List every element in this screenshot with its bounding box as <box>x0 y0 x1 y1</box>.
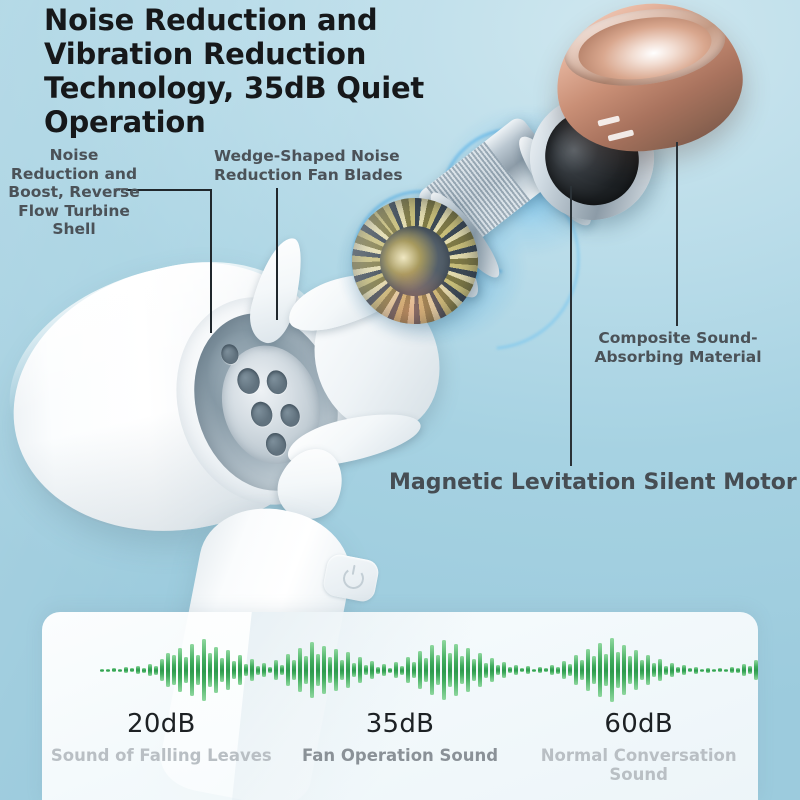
waveform-bar <box>706 668 710 673</box>
waveform-bar <box>328 657 332 683</box>
waveform-bar <box>592 656 596 684</box>
waveform-bar <box>490 658 494 682</box>
waveform-bar <box>604 654 608 686</box>
decibel-value: 20dB <box>50 708 273 741</box>
waveform-bar <box>268 667 272 673</box>
cup-slot <box>597 115 620 126</box>
waveform-bar <box>370 661 374 679</box>
waveform-bar <box>400 666 404 675</box>
waveform-bar <box>514 665 518 675</box>
waveform-bar <box>436 655 440 685</box>
waveform-bar <box>118 669 122 672</box>
waveform-bar <box>172 655 176 685</box>
waveform-bar <box>142 668 146 673</box>
waveform-bar <box>694 667 698 674</box>
waveform-bar <box>742 664 746 676</box>
waveform-bar <box>178 648 182 692</box>
decibel-level-1: 20dBSound of Falling Leaves <box>42 708 281 785</box>
waveform-bar <box>712 669 716 672</box>
waveform-bar <box>526 666 530 674</box>
waveform-bar <box>130 668 134 672</box>
waveform-bar <box>724 669 728 672</box>
waveform-bar <box>754 660 758 680</box>
waveform-bar <box>124 667 128 673</box>
waveform-bar <box>136 666 140 674</box>
waveform-bar <box>610 638 614 702</box>
waveform-bar <box>412 662 416 678</box>
waveform-bar <box>322 646 326 694</box>
decibel-caption: Fan Operation Sound <box>289 746 512 766</box>
waveform-bar <box>274 660 278 680</box>
callout-label-fan-blades: Wedge-Shaped Noise Reduction Fan Blades <box>214 147 414 184</box>
decibel-caption: Normal Conversation Sound <box>527 746 750 786</box>
waveform-bar <box>166 653 170 687</box>
waveform-bar <box>280 665 284 675</box>
decibel-value: 35dB <box>289 708 512 741</box>
page-title: Noise Reduction and Vibration Reduction … <box>44 4 464 140</box>
waveform-bar <box>418 651 422 689</box>
waveform-bar <box>376 667 380 674</box>
waveform-bar <box>190 644 194 696</box>
waveform-bar <box>364 665 368 675</box>
waveform-bar <box>310 642 314 698</box>
waveform-bar <box>544 668 548 672</box>
waveform-bar <box>202 639 206 701</box>
waveform-bar <box>562 661 566 679</box>
audio-waveform <box>100 634 720 706</box>
leader-line-fan-blades <box>276 188 278 320</box>
waveform-bar <box>292 660 296 680</box>
waveform-bar <box>658 659 662 681</box>
waveform-bar <box>346 652 350 688</box>
waveform-bar <box>688 668 692 672</box>
waveform-bar <box>598 643 602 697</box>
waveform-bar <box>580 660 584 680</box>
waveform-bar <box>496 665 500 675</box>
waveform-bar <box>730 667 734 673</box>
waveform-bar <box>628 656 632 684</box>
waveform-bar <box>232 661 236 679</box>
waveform-bar <box>478 653 482 687</box>
decibel-row: 20dBSound of Falling Leaves35dBFan Opera… <box>42 708 758 785</box>
leader-line-sound-absorbing <box>676 142 678 326</box>
waveform-bar <box>652 663 656 677</box>
waveform-bar <box>220 658 224 682</box>
waveform-bar <box>256 666 260 675</box>
waveform-bar <box>664 666 668 675</box>
waveform-bar <box>154 666 158 675</box>
product-infographic: Noise Reduction and Vibration Reduction … <box>0 0 800 800</box>
waveform-bar <box>238 655 242 685</box>
waveform-bar <box>718 668 722 672</box>
waveform-bar <box>472 659 476 681</box>
waveform-bar <box>406 657 410 683</box>
waveform-bar <box>646 655 650 685</box>
waveform-bar <box>304 656 308 684</box>
waveform-bar <box>316 654 320 686</box>
callout-label-silent-motor: Magnetic Levitation Silent Motor <box>389 470 797 496</box>
waveform-bar <box>460 656 464 684</box>
waveform-bar <box>448 653 452 687</box>
waveform-bar <box>286 654 290 686</box>
waveform-bar <box>640 660 644 680</box>
waveform-bar <box>550 665 554 675</box>
callout-label-turbine-shell: Noise Reduction and Boost, Reverse Flow … <box>8 146 140 239</box>
waveform-bar <box>670 663 674 677</box>
waveform-bar <box>616 652 620 688</box>
waveform-bar <box>112 668 116 672</box>
decibel-value: 60dB <box>527 708 750 741</box>
waveform-bar <box>502 662 506 678</box>
waveform-bar <box>358 657 362 683</box>
waveform-bar <box>208 653 212 687</box>
waveform-bar <box>574 655 578 685</box>
waveform-bar <box>388 668 392 673</box>
waveform-bar <box>676 667 680 673</box>
waveform-bar <box>634 650 638 690</box>
waveform-bar <box>184 657 188 683</box>
waveform-bar <box>352 663 356 677</box>
waveform-bar <box>700 669 704 672</box>
waveform-bar <box>520 668 524 672</box>
waveform-bar <box>196 655 200 685</box>
waveform-bar <box>250 659 254 681</box>
waveform-bar <box>382 664 386 676</box>
waveform-bar <box>622 645 626 695</box>
waveform-bar <box>100 669 104 672</box>
waveform-bar <box>148 664 152 676</box>
waveform-bar <box>538 667 542 673</box>
waveform-bar <box>586 649 590 691</box>
waveform-bar <box>160 659 164 681</box>
waveform-bar <box>484 663 488 678</box>
waveform-bar <box>394 662 398 678</box>
waveform-bar <box>736 668 740 673</box>
leader-line-turbine-shell-vertical <box>210 189 212 333</box>
waveform-bar <box>508 667 512 673</box>
waveform-bar <box>262 663 266 677</box>
waveform-bar <box>748 666 752 674</box>
waveform-bar <box>106 669 110 672</box>
waveform-bar <box>298 648 302 692</box>
waveform-bar <box>568 664 572 676</box>
waveform-bar <box>466 648 470 692</box>
cup-slot <box>608 129 635 141</box>
noise-level-panel: 20dBSound of Falling Leaves35dBFan Opera… <box>42 612 758 800</box>
decibel-level-3: 60dBNormal Conversation Sound <box>519 708 758 785</box>
waveform-bar <box>454 644 458 696</box>
decibel-level-2: 35dBFan Operation Sound <box>281 708 520 785</box>
waveform-bar <box>244 664 248 676</box>
waveform-bar <box>340 660 344 680</box>
waveform-bar <box>532 669 536 672</box>
waveform-bar <box>442 640 446 700</box>
waveform-bar <box>556 667 560 674</box>
waveform-bar <box>214 647 218 693</box>
waveform-bar <box>334 649 338 691</box>
waveform-bar <box>226 650 230 690</box>
callout-label-sound-absorbing: Composite Sound-Absorbing Material <box>556 329 800 366</box>
waveform-bar <box>424 658 428 682</box>
waveform-bar <box>682 665 686 675</box>
leader-line-silent-motor <box>570 186 572 466</box>
waveform-bar <box>430 645 434 695</box>
decibel-caption: Sound of Falling Leaves <box>50 746 273 766</box>
